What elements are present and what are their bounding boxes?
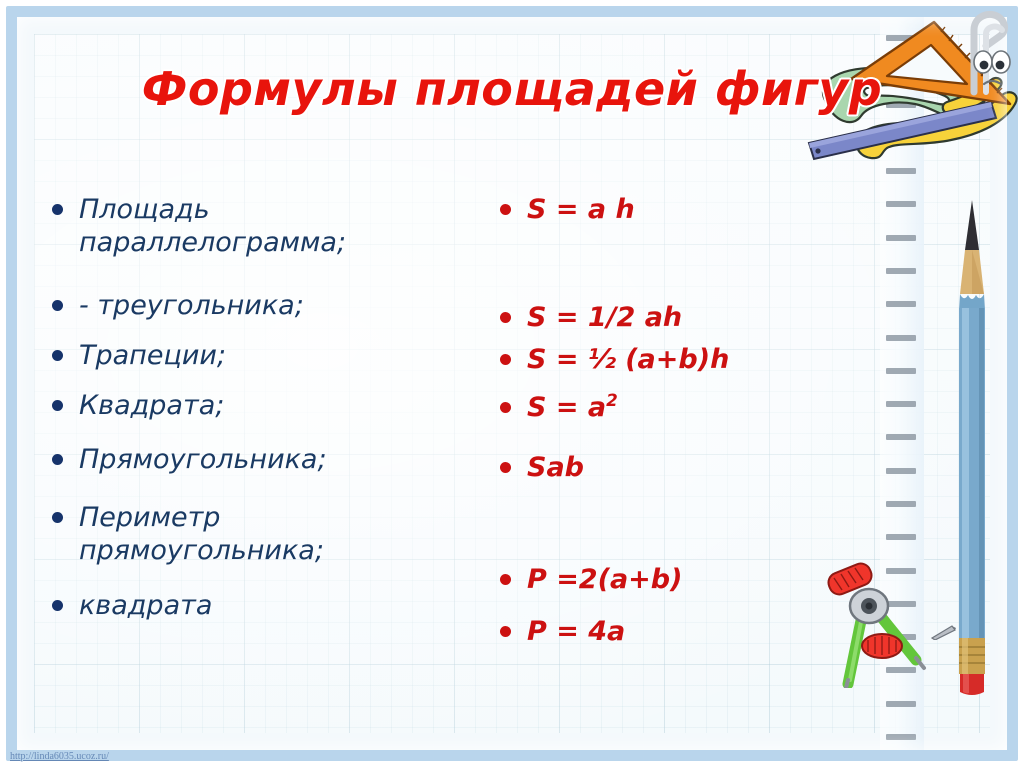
- bullet-icon: [52, 300, 63, 311]
- formula-label: Sab: [527, 452, 584, 485]
- formula-base: S = ½ (a+b)h: [527, 344, 729, 375]
- formula-item: Sab: [500, 452, 584, 485]
- formula-base: S = a: [527, 392, 606, 423]
- formula-label: S = a2: [527, 392, 618, 425]
- ruler-tick: [886, 401, 916, 407]
- ruler-tick: [886, 734, 916, 740]
- bullet-icon: [52, 204, 63, 215]
- formula-item: P =2(a+b): [500, 564, 682, 597]
- ruler-tick: [886, 301, 916, 307]
- list-item-label: Квадрата;: [79, 390, 224, 423]
- list-item: Прямоугольника;: [52, 444, 412, 477]
- bullet-icon: [500, 312, 511, 323]
- ruler-tick: [886, 368, 916, 374]
- bullet-icon: [500, 462, 511, 473]
- list-item: Площадь параллелограмма;: [52, 194, 412, 260]
- ruler-tick: [886, 268, 916, 274]
- formula-exponent: 2: [606, 390, 618, 410]
- source-url-link[interactable]: http://linda6035.ucoz.ru/: [10, 751, 109, 762]
- list-item-label: - треугольника;: [79, 290, 304, 323]
- bullet-icon: [52, 512, 63, 523]
- bullet-icon: [500, 204, 511, 215]
- ruler-tick: [886, 434, 916, 440]
- ruler-tick: [886, 701, 916, 707]
- compass-adjust-wheel: [862, 634, 902, 658]
- list-item-label: Периметр прямоугольника;: [79, 502, 352, 568]
- ruler-tick: [886, 468, 916, 474]
- ruler-tick: [886, 534, 916, 540]
- list-item: Периметр прямоугольника;: [52, 502, 352, 568]
- formula-label: S = a h: [527, 194, 635, 227]
- formula-base: S = 1/2 ah: [527, 302, 682, 333]
- formula-base: S = a h: [527, 194, 635, 225]
- list-item: Квадрата;: [52, 390, 412, 423]
- formula-label: P =2(a+b): [527, 564, 682, 597]
- formula-item: P = 4a: [500, 616, 625, 649]
- list-item-label: квадрата: [79, 590, 212, 623]
- bullet-icon: [500, 574, 511, 585]
- list-item: Трапеции;: [52, 340, 412, 373]
- formula-label: S = 1/2 ah: [527, 302, 682, 335]
- pencil-icon: [955, 198, 989, 698]
- formula-base: P = 4a: [527, 616, 625, 647]
- bullet-icon: [52, 350, 63, 361]
- formula-item: S = 1/2 ah: [500, 302, 682, 335]
- formula-label: S = ½ (a+b)h: [527, 344, 729, 377]
- ruler-tick: [886, 335, 916, 341]
- formula-item: S = a2: [500, 392, 618, 425]
- slide-canvas: Формулы площадей фигур Площадь параллело…: [0, 0, 1024, 767]
- ruler-tick: [886, 201, 916, 207]
- ruler-tick: [886, 501, 916, 507]
- formula-label: P = 4a: [527, 616, 625, 649]
- bullet-icon: [52, 400, 63, 411]
- bullet-icon: [52, 600, 63, 611]
- formula-item: S = a h: [500, 194, 635, 227]
- formula-item: S = ½ (a+b)h: [500, 344, 729, 377]
- list-item-label: Прямоугольника;: [79, 444, 327, 477]
- list-item: - треугольника;: [52, 290, 412, 323]
- bullet-icon: [52, 454, 63, 465]
- compass-icon: [812, 562, 936, 688]
- formula-base: Sab: [527, 452, 584, 483]
- bullet-icon: [500, 354, 511, 365]
- ruler-tick: [886, 235, 916, 241]
- page-title: Формулы площадей фигур: [0, 62, 1024, 116]
- formula-base: P =2(a+b): [527, 564, 682, 595]
- list-item-label: Площадь параллелограмма;: [79, 194, 412, 260]
- bullet-icon: [500, 402, 511, 413]
- list-item: квадрата: [52, 590, 412, 623]
- list-item-label: Трапеции;: [79, 340, 226, 373]
- bullet-icon: [500, 626, 511, 637]
